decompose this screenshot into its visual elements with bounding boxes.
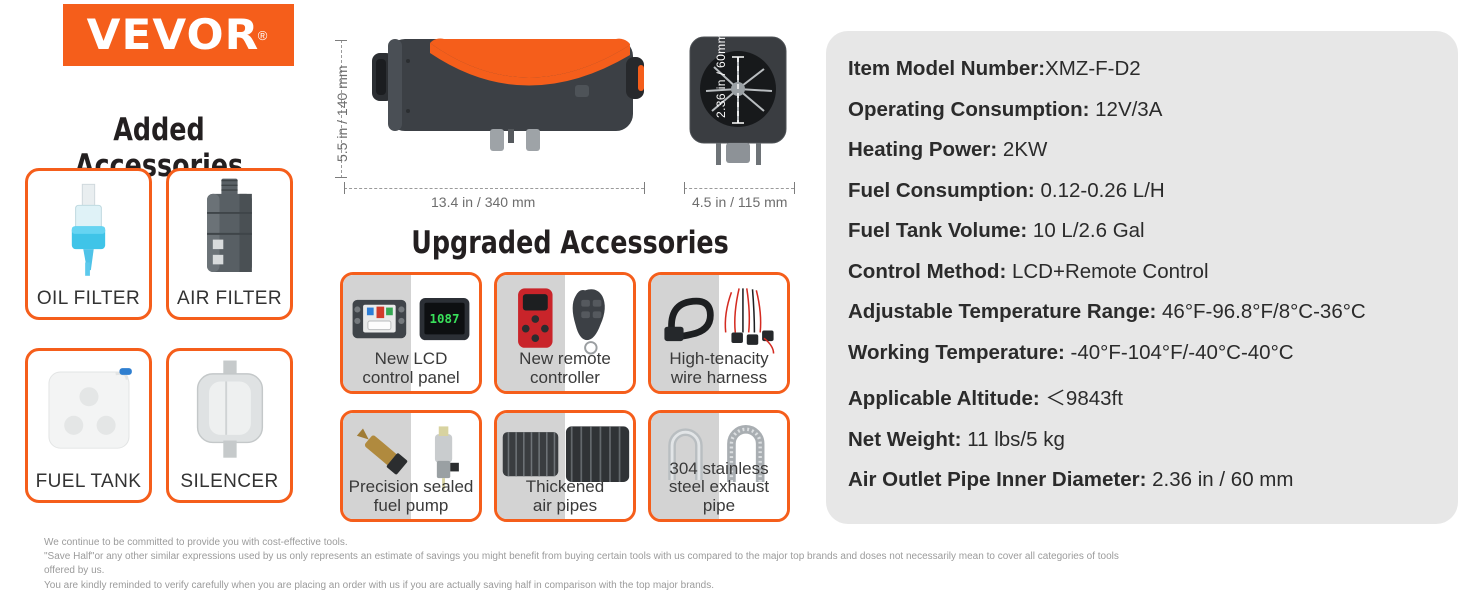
upgraded-card-exhaust-pipe: 304 stainless steel exhaust pipe xyxy=(648,410,790,522)
outlet-diameter-label: 2.36 in / 60mm xyxy=(714,33,728,118)
height-dimension-label: 5.5 in / 140 mm xyxy=(334,66,350,163)
accessory-label: AIR FILTER xyxy=(177,288,282,317)
spec-row-fuel-consumption: Fuel Consumption: 0.12-0.26 L/H xyxy=(848,179,1458,203)
spec-value: 10 L/2.6 Gal xyxy=(1033,219,1145,242)
spec-key: Operating Consumption: xyxy=(848,98,1089,121)
svg-text:1087: 1087 xyxy=(430,311,460,326)
spec-row-air-outlet-pipe-inner-diameter: Air Outlet Pipe Inner Diameter: 2.36 in … xyxy=(848,468,1458,492)
spec-key: Adjustable Temperature Range: xyxy=(848,300,1156,323)
upgraded-card-wire-harness: High-tenacity wire harness xyxy=(648,272,790,394)
accessory-card-air-filter: AIR FILTER xyxy=(166,168,293,320)
spec-value: XMZ-F-D2 xyxy=(1045,57,1141,80)
spec-key: Air Outlet Pipe Inner Diameter: xyxy=(848,468,1146,491)
fuel-tank-icon xyxy=(28,351,149,466)
spec-key: Control Method: xyxy=(848,260,1006,283)
spec-row-adjustable-temperature-range: Adjustable Temperature Range: 46°F-96.8°… xyxy=(848,300,1458,324)
spec-value: ＜9843ft xyxy=(1045,387,1123,410)
width-tick-right xyxy=(794,182,795,194)
specifications-panel: Item Model Number:XMZ-F-D2 Operating Con… xyxy=(826,31,1458,524)
upgraded-card-air-pipes: Thickened air pipes xyxy=(494,410,636,522)
spec-key: Fuel Consumption: xyxy=(848,179,1035,202)
card-label: High-tenacity wire harness xyxy=(651,350,787,387)
length-tick-right xyxy=(644,182,645,194)
accessory-card-oil-filter: OIL FILTER xyxy=(25,168,152,320)
spec-value: 12V/3A xyxy=(1095,98,1162,121)
spec-value: LCD+Remote Control xyxy=(1012,260,1209,283)
spec-key: Applicable Altitude: xyxy=(848,387,1040,410)
vevor-logo: VEVOR® xyxy=(63,4,294,66)
card-label: 304 stainless steel exhaust pipe xyxy=(651,460,787,515)
oil-filter-icon xyxy=(28,171,149,283)
spec-key: Fuel Tank Volume: xyxy=(848,219,1027,242)
width-tick-left xyxy=(684,182,685,194)
accessory-label: SILENCER xyxy=(180,471,278,500)
spec-row-control-method: Control Method: LCD+Remote Control xyxy=(848,260,1458,284)
spec-key: Working Temperature: xyxy=(848,341,1065,364)
spec-key: Item Model Number: xyxy=(848,57,1045,80)
heater-front-view-image xyxy=(672,33,802,181)
card-label: Precision sealed fuel pump xyxy=(343,478,479,515)
length-dimension-line xyxy=(344,188,644,189)
spec-row-fuel-tank-volume: Fuel Tank Volume: 10 L/2.6 Gal xyxy=(848,219,1458,243)
width-dimension-line xyxy=(684,188,794,189)
disclaimer-line-2: "Save Half"or any other similar expressi… xyxy=(44,550,1144,578)
card-label: New LCD control panel xyxy=(343,350,479,387)
disclaimer-line-1: We continue to be committed to provide y… xyxy=(44,536,1144,550)
upgraded-card-fuel-pump: Precision sealed fuel pump xyxy=(340,410,482,522)
spec-row-working-temperature: Working Temperature: -40°F-104°F/-40°C-4… xyxy=(848,341,1458,365)
disclaimer-text: We continue to be committed to provide y… xyxy=(44,536,1144,593)
accessory-card-silencer: SILENCER xyxy=(166,348,293,503)
accessory-label: FUEL TANK xyxy=(36,471,142,500)
spec-key: Heating Power: xyxy=(848,138,997,161)
heater-side-view-image xyxy=(330,25,670,185)
spec-value: 46°F-96.8°F/8°C-36°C xyxy=(1162,300,1366,323)
accessory-card-fuel-tank: FUEL TANK xyxy=(25,348,152,503)
height-tick-bottom xyxy=(335,177,347,178)
spec-row-applicable-altitude: Applicable Altitude: ＜9843ft xyxy=(848,381,1458,411)
width-dimension-label: 4.5 in / 115 mm xyxy=(692,194,787,210)
accessory-label: OIL FILTER xyxy=(37,288,140,317)
spec-row-heating-power: Heating Power: 2KW xyxy=(848,138,1458,162)
spec-value: 11 lbs/5 kg xyxy=(967,428,1065,451)
silencer-icon xyxy=(169,351,290,466)
length-tick-left xyxy=(344,182,345,194)
spec-value: 2KW xyxy=(1003,138,1047,161)
logo-wordmark: VEVOR xyxy=(86,14,259,56)
height-tick-top xyxy=(335,40,347,41)
spec-row-operating-consumption: Operating Consumption: 12V/3A xyxy=(848,98,1458,122)
spec-value: 0.12-0.26 L/H xyxy=(1040,179,1164,202)
spec-value: -40°F-104°F/-40°C-40°C xyxy=(1071,341,1294,364)
upgraded-card-lcd-control-panel: 1087 New LCD control panel xyxy=(340,272,482,394)
air-filter-icon xyxy=(169,171,290,283)
length-dimension-label: 13.4 in / 340 mm xyxy=(431,194,535,210)
upgraded-card-remote-controller: New remote controller xyxy=(494,272,636,394)
card-label: Thickened air pipes xyxy=(497,478,633,515)
upgraded-accessories-heading: Upgraded Accessories xyxy=(377,225,762,261)
spec-value: 2.36 in / 60 mm xyxy=(1152,468,1293,491)
spec-row-net-weight: Net Weight: 11 lbs/5 kg xyxy=(848,428,1458,452)
disclaimer-line-3: You are kindly reminded to verify carefu… xyxy=(44,579,1144,593)
card-label: New remote controller xyxy=(497,350,633,387)
spec-row-item-model-number: Item Model Number:XMZ-F-D2 xyxy=(848,57,1458,81)
spec-key: Net Weight: xyxy=(848,428,962,451)
